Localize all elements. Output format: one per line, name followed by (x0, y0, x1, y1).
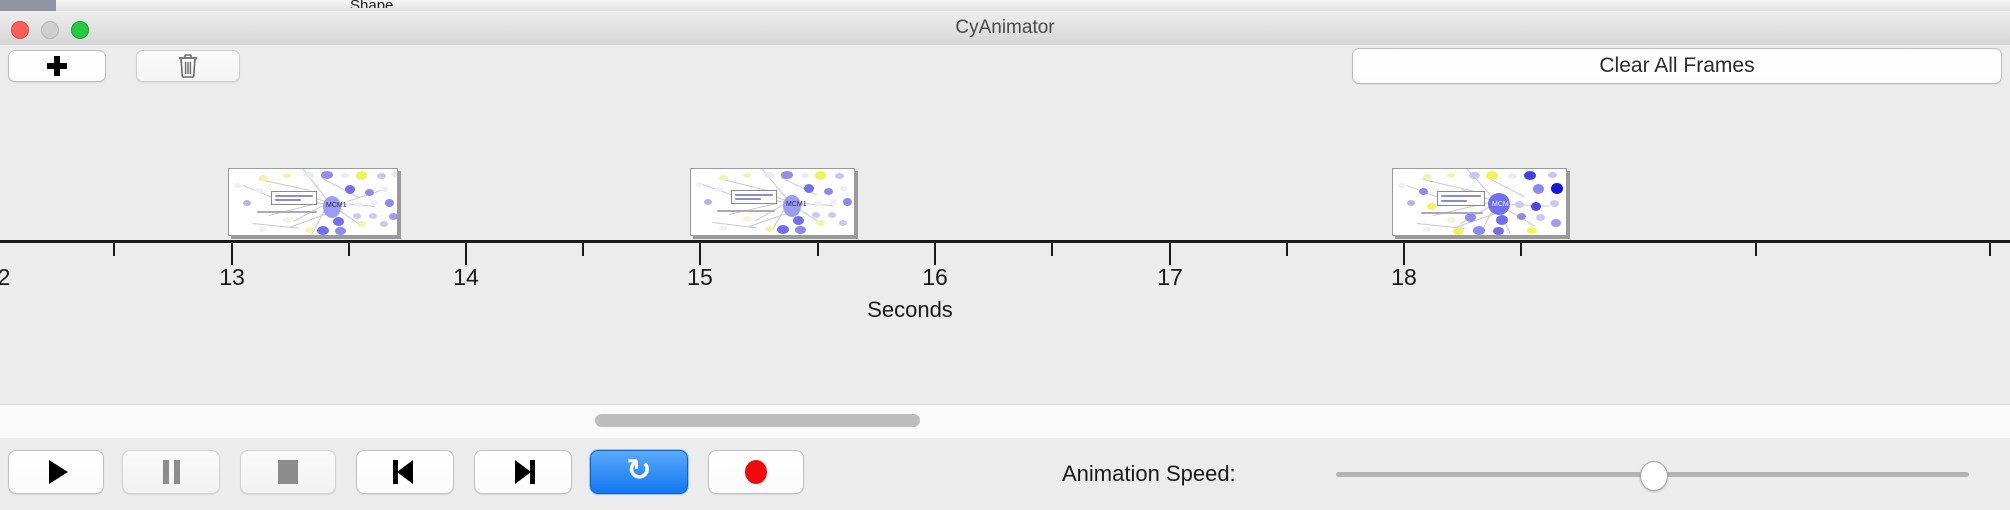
window-title: CyAnimator (0, 11, 2010, 45)
skip-to-start-button[interactable] (356, 450, 454, 494)
ruler-major-tick (231, 243, 233, 265)
pause-button[interactable] (122, 450, 220, 494)
ruler-major-tick (934, 243, 936, 265)
ruler-minor-tick (817, 243, 819, 256)
bg-window-label: Shape (350, 0, 393, 8)
plus-icon (47, 56, 67, 76)
ruler-label: 15 (687, 264, 713, 291)
ruler-minor-tick (1520, 243, 1522, 256)
stop-icon (278, 460, 298, 484)
bg-chip (0, 0, 57, 11)
skip-start-icon (393, 460, 417, 484)
frame-network-graph: MCM1 (691, 169, 854, 235)
ruler-minor-tick (113, 243, 115, 256)
playback-toolbar: ↻ Animation Speed: (0, 438, 2010, 510)
clear-all-frames-button[interactable]: Clear All Frames (1352, 48, 2002, 84)
ruler-minor-tick (1051, 243, 1053, 256)
play-button[interactable] (8, 450, 104, 494)
title-bar: CyAnimator (0, 11, 2010, 46)
bg-chip (192, 0, 253, 11)
add-frame-button[interactable] (8, 50, 106, 82)
ruler-label: 17 (1157, 264, 1183, 291)
skip-end-icon (511, 460, 535, 484)
bg-chip (736, 0, 781, 11)
ruler-minor-tick (1989, 243, 1991, 256)
frame-tooltip (271, 191, 317, 205)
stop-button[interactable] (240, 450, 336, 494)
ruler-minor-tick (348, 243, 350, 256)
animation-speed-label: Animation Speed: (1062, 438, 1236, 510)
ruler-minor-tick (582, 243, 584, 256)
record-button[interactable] (708, 450, 804, 494)
ruler-minor-tick (1286, 243, 1288, 256)
timeline-frame-thumbnail[interactable]: MCM1 (690, 168, 855, 236)
skip-to-end-button[interactable] (474, 450, 572, 494)
timeline-ruler (0, 240, 2010, 243)
toolbar: Clear All Frames (0, 45, 2010, 88)
horizontal-scrollbar[interactable] (0, 404, 2010, 439)
bg-chip (1910, 0, 2010, 11)
frame-tooltip (1437, 191, 1485, 206)
ruler-major-tick (1403, 243, 1405, 265)
ruler-label: 14 (453, 264, 479, 291)
timeline-frame-thumbnail[interactable]: MCM1 (228, 168, 398, 236)
bg-chip (252, 0, 315, 11)
ruler-minor-tick (1755, 243, 1757, 256)
frame-tooltip (731, 190, 777, 204)
record-icon (745, 460, 767, 484)
loop-icon: ↻ (626, 456, 651, 486)
frame-network-graph: MCM1 (229, 169, 397, 235)
axis-title: Seconds (867, 297, 953, 323)
cyanimator-window: Shape CyAnimator Clear All Frames (0, 0, 2010, 510)
delete-frame-button[interactable] (136, 50, 240, 82)
ruler-label: 2 (0, 264, 10, 291)
play-icon (49, 460, 68, 484)
ruler-label: 18 (1391, 264, 1417, 291)
bg-chip (56, 0, 153, 11)
scrollbar-thumb[interactable] (595, 414, 920, 427)
loop-button[interactable]: ↻ (590, 450, 688, 494)
timeline-panel[interactable]: MCM1 (0, 87, 2010, 404)
bg-chip (780, 0, 1911, 11)
ruler-major-tick (699, 243, 701, 265)
ruler-label: 16 (922, 264, 948, 291)
animation-speed-slider-thumb[interactable] (1640, 461, 1668, 491)
bg-chip (700, 0, 737, 11)
trash-icon (177, 53, 199, 79)
timeline-frame-thumbnail[interactable]: MCM1 (1392, 168, 1567, 236)
bg-chip (152, 0, 193, 11)
pause-icon (163, 460, 180, 484)
ruler-label: 13 (219, 264, 245, 291)
frame-network-graph: MCM1 (1393, 169, 1566, 235)
ruler-major-tick (1169, 243, 1171, 265)
ruler-major-tick (465, 243, 467, 265)
